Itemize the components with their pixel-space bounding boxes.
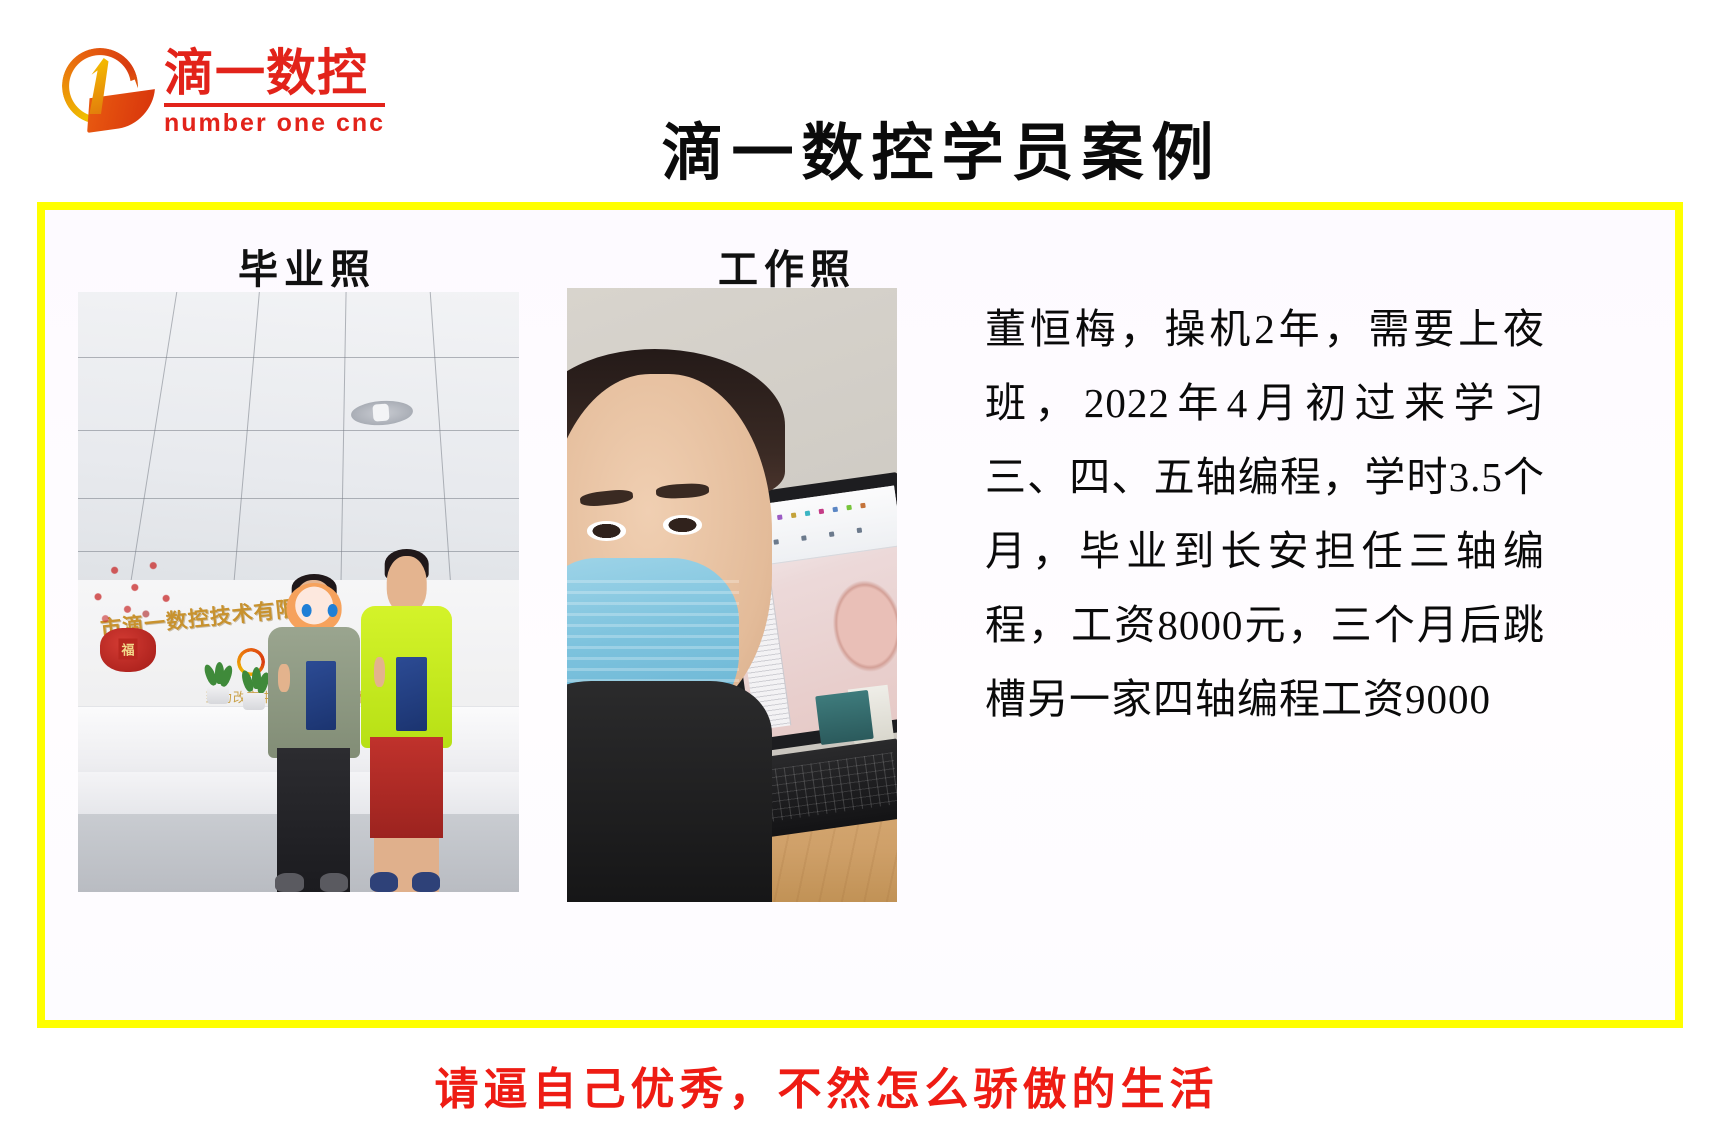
plant-pot (243, 693, 265, 710)
potted-plant (201, 664, 235, 704)
toolbar-icon (829, 532, 835, 538)
toolbar-icon (774, 540, 780, 546)
brand-name-cn: 滴一数控 (164, 48, 385, 98)
ceiling-grid-line (78, 430, 519, 431)
person-eye (663, 515, 703, 535)
ceiling-tiles (78, 292, 519, 586)
toolbar-icon (819, 509, 825, 515)
person-shoe (320, 873, 348, 892)
ceiling-light-icon (351, 399, 415, 427)
cad-3d-part-model (822, 570, 897, 684)
plant-pot (207, 687, 229, 704)
student-case-description: 董恒梅，操机2年，需要上夜班，2022年4月初过来学习三、四、五轴编程，学时3.… (985, 292, 1545, 736)
work-photo (567, 288, 897, 902)
ceiling-grid-line (429, 292, 451, 586)
person-shoe (275, 873, 303, 892)
person-shorts (370, 737, 443, 838)
person-pants (277, 748, 350, 892)
toolbar-icon (802, 536, 808, 542)
teal-box (815, 690, 873, 745)
cat-sticker-face-cover-icon (287, 583, 342, 633)
ceiling-grid-line (233, 292, 260, 586)
certificate-book (306, 661, 336, 730)
red-blossom-branches (87, 550, 179, 628)
certificate-book (396, 657, 426, 731)
caption-graduation-photo: 毕业照 (238, 237, 376, 295)
graduate-person-right (356, 556, 457, 892)
graduation-photo: 市滴一数控技术有限公司 滴一数控 致力改变中国数控行业技术保守现象 让天下没有难… (78, 292, 519, 892)
toolbar-icon (805, 511, 811, 517)
toolbar-icon (861, 503, 867, 509)
toolbar-icon (847, 505, 853, 511)
footer-motivational-slogan: 请逼自己优秀，不然怎么骄傲的生活 (0, 1053, 1713, 1117)
fortune-vase (100, 628, 156, 672)
person-sandal (370, 872, 398, 892)
ceiling-grid-line (340, 292, 346, 586)
toolbar-icon (777, 515, 783, 521)
person-sandal (412, 872, 440, 892)
person-head (386, 556, 427, 613)
graduate-person-left (263, 580, 364, 892)
toolbar-icon (791, 513, 797, 519)
ceiling-grid-line (78, 357, 519, 358)
toolbar-icon (857, 528, 863, 534)
thumbs-up-hand-icon (278, 664, 289, 692)
toolbar-icon (833, 507, 839, 513)
person-torso (567, 681, 772, 902)
caption-work-photo: 工作照 (718, 237, 856, 295)
thumbs-up-hand-icon (374, 657, 385, 687)
page-title: 滴一数控学员案例 (0, 102, 1713, 192)
ceiling-grid-line (130, 292, 178, 586)
person-eye (587, 521, 627, 541)
